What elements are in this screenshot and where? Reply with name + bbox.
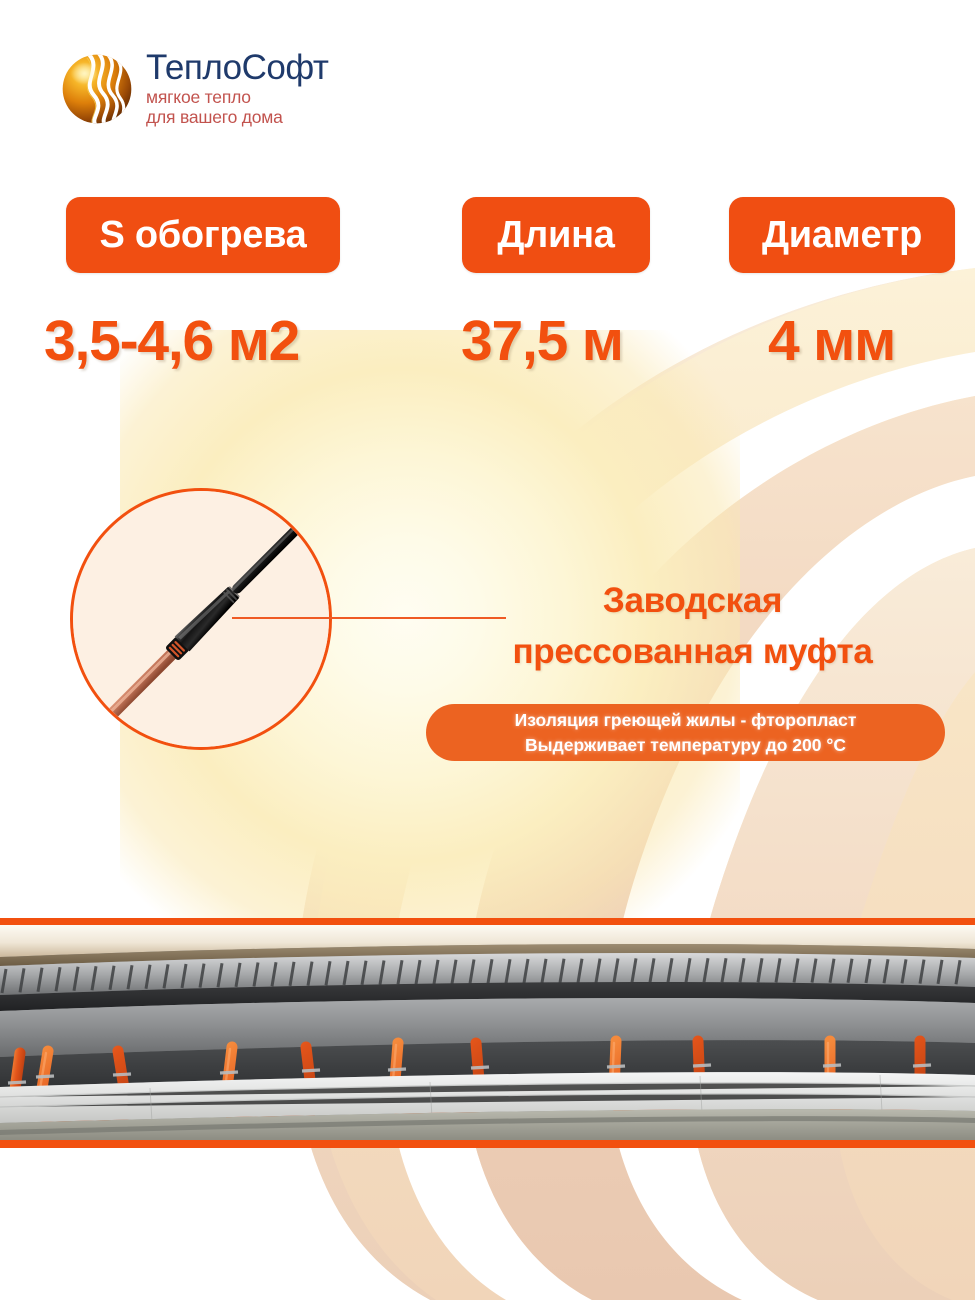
spec-value-length: 37,5 м bbox=[461, 308, 623, 374]
brand-name: ТеплоСофт bbox=[146, 50, 328, 85]
spec-value-heating-area: 3,5-4,6 м2 bbox=[44, 308, 299, 374]
spec-badge-diameter: Диаметр bbox=[729, 197, 955, 273]
callout-headline-line2: прессованная муфта bbox=[430, 626, 955, 677]
brand-tagline: мягкое тепло для вашего дома bbox=[146, 88, 328, 128]
heating-cable-under-floor-illustration bbox=[0, 925, 975, 1140]
insulation-info-pill: Изоляция греющей жилы - фторопласт Выдер… bbox=[426, 704, 945, 761]
callout-headline: Заводская прессованная муфта bbox=[430, 575, 955, 677]
brand-tagline-line1: мягкое тепло bbox=[146, 87, 251, 107]
logo-wordmark: ТеплоСофт мягкое тепло для вашего дома bbox=[146, 50, 328, 128]
brand-logo: ТеплоСофт мягкое тепло для вашего дома bbox=[58, 50, 328, 128]
coupling-magnifier-circle bbox=[70, 488, 332, 750]
spec-badge-heating-area: S обогрева bbox=[66, 197, 340, 273]
insulation-info-line2: Выдерживает температуру до 200 °С bbox=[525, 733, 846, 758]
insulation-info-line1: Изоляция греющей жилы - фторопласт bbox=[515, 708, 857, 733]
product-card: ТеплоСофт мягкое тепло для вашего дома S… bbox=[0, 0, 975, 1300]
cable-coupling-icon bbox=[70, 488, 332, 750]
callout-headline-line1: Заводская bbox=[430, 575, 955, 626]
spec-value-diameter: 4 мм bbox=[768, 308, 895, 374]
spec-badge-length: Длина bbox=[462, 197, 650, 273]
teplosoft-sphere-logo-icon bbox=[58, 50, 136, 128]
floor-cross-section-photo bbox=[0, 918, 975, 1148]
brand-tagline-line2: для вашего дома bbox=[146, 107, 283, 127]
